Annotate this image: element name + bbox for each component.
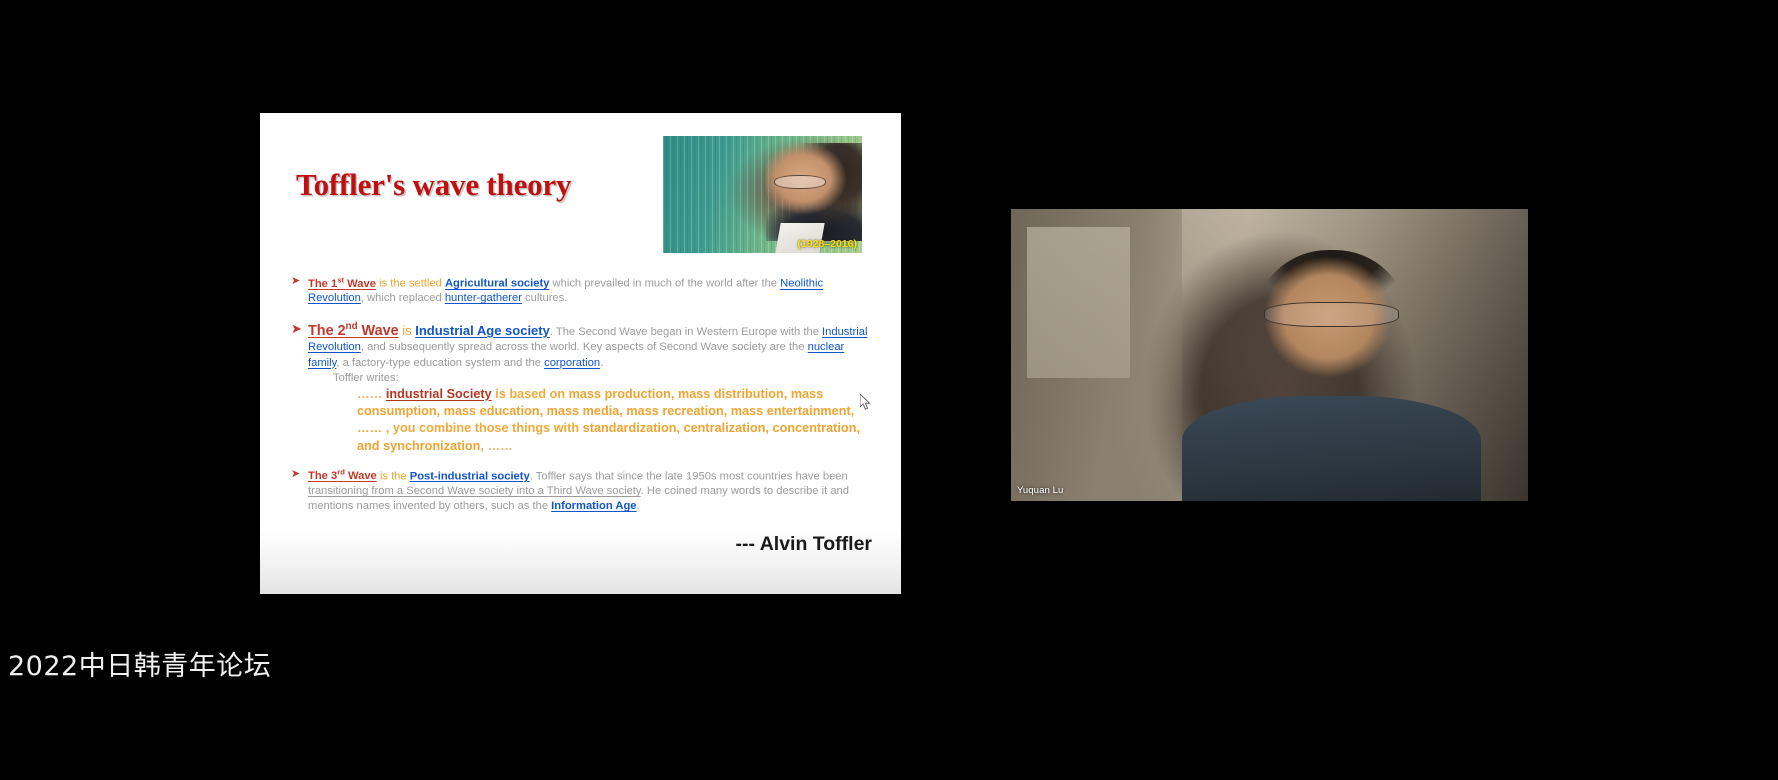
second-wave-body-4: . — [600, 357, 603, 369]
first-wave-body-2: , which replaced — [361, 292, 445, 304]
quote-emphasis-industrial-society: industrial Society — [386, 387, 492, 401]
toffler-writes-label: Toffler writes: — [291, 371, 877, 386]
third-wave-body-3: . — [637, 500, 640, 512]
third-wave-connector: is the — [377, 470, 410, 482]
participant-torso — [1182, 396, 1482, 501]
slide-body-content: ➤ The 1st Wave is the settled Agricultur… — [291, 273, 877, 514]
third-wave-body-1: . Toffler says that since the late 1950s… — [530, 470, 848, 482]
third-wave-ordinal: rd — [337, 468, 345, 477]
bullet-arrow-icon: ➤ — [291, 273, 308, 289]
event-title-overlay: 2022中日韩青年论坛 — [8, 644, 271, 683]
third-wave-heading: The 3rd Wave — [308, 470, 377, 482]
video-participant-tile[interactable]: Yuquan Lu — [1011, 209, 1528, 501]
link-post-industrial-society[interactable]: Post-industrial society — [410, 470, 530, 482]
quote-trail-ellipsis: , …… — [480, 439, 512, 453]
first-wave-ordinal: st — [337, 275, 344, 284]
quote-lead-ellipsis: …… — [357, 387, 386, 401]
bullet-second-wave-text: The 2nd Wave is Industrial Age society. … — [308, 319, 877, 371]
bullet-second-wave: ➤ The 2nd Wave is Industrial Age society… — [291, 319, 877, 371]
link-industrial-age-society[interactable]: Industrial Age society — [415, 323, 550, 338]
second-wave-body-3: , a factory-type education system and th… — [336, 357, 544, 369]
second-wave-heading: The 2nd Wave — [308, 323, 399, 339]
spacer — [291, 455, 877, 466]
first-wave-heading: The 1st Wave — [308, 278, 376, 290]
slide-attribution: --- Alvin Toffler — [260, 533, 872, 556]
link-hunter-gatherer[interactable]: hunter-gatherer — [445, 292, 522, 304]
link-corporation[interactable]: corporation — [544, 357, 600, 369]
first-wave-body-3: cultures. — [522, 292, 567, 304]
spacer — [291, 306, 877, 319]
quote-part-1: is based on — [492, 387, 569, 401]
bullet-third-wave-text: The 3rd Wave is the Post-industrial soci… — [308, 466, 877, 514]
participant-name-label: Yuquan Lu — [1017, 485, 1063, 496]
link-information-age[interactable]: Information Age — [551, 500, 636, 512]
bullet-third-wave: ➤ The 3rd Wave is the Post-industrial so… — [291, 466, 877, 514]
toffler-quote-block: …… industrial Society is based on mass p… — [291, 386, 877, 455]
video-window-shape — [1027, 227, 1130, 379]
alvin-toffler-portrait-image: (1928–2016) — [663, 136, 862, 253]
portrait-lifespan-caption: (1928–2016) — [797, 238, 857, 250]
quote-first-line: …… industrial Society is based on mass p… — [334, 386, 877, 455]
screen-share-stage: Toffler's wave theory (1928–2016) ➤ The … — [0, 0, 1778, 780]
second-wave-body-1: . The Second Wave began in Western Europ… — [550, 326, 822, 338]
page-title: Toffler's wave theory — [296, 167, 571, 203]
bullet-first-wave-text: The 1st Wave is the settled Agricultural… — [308, 273, 877, 306]
second-wave-ordinal: nd — [346, 321, 358, 332]
participant-glasses-icon — [1264, 302, 1398, 327]
second-wave-connector: is — [399, 323, 416, 338]
bullet-arrow-icon: ➤ — [291, 319, 308, 338]
first-wave-body-1: which prevailed in much of the world aft… — [549, 278, 780, 290]
first-wave-connector: is the settled — [376, 278, 445, 290]
mouse-cursor-icon — [860, 394, 872, 412]
link-agricultural-society[interactable]: Agricultural society — [445, 278, 549, 290]
link-transitioning-phrase[interactable]: transitioning from a Second Wave society… — [308, 485, 641, 497]
portrait-glasses-shape — [774, 175, 826, 189]
bullet-first-wave: ➤ The 1st Wave is the settled Agricultur… — [291, 273, 877, 306]
presentation-slide: Toffler's wave theory (1928–2016) ➤ The … — [260, 113, 901, 594]
bullet-arrow-icon: ➤ — [291, 466, 308, 482]
second-wave-body-2: , and subsequently spread across the wor… — [361, 341, 808, 353]
